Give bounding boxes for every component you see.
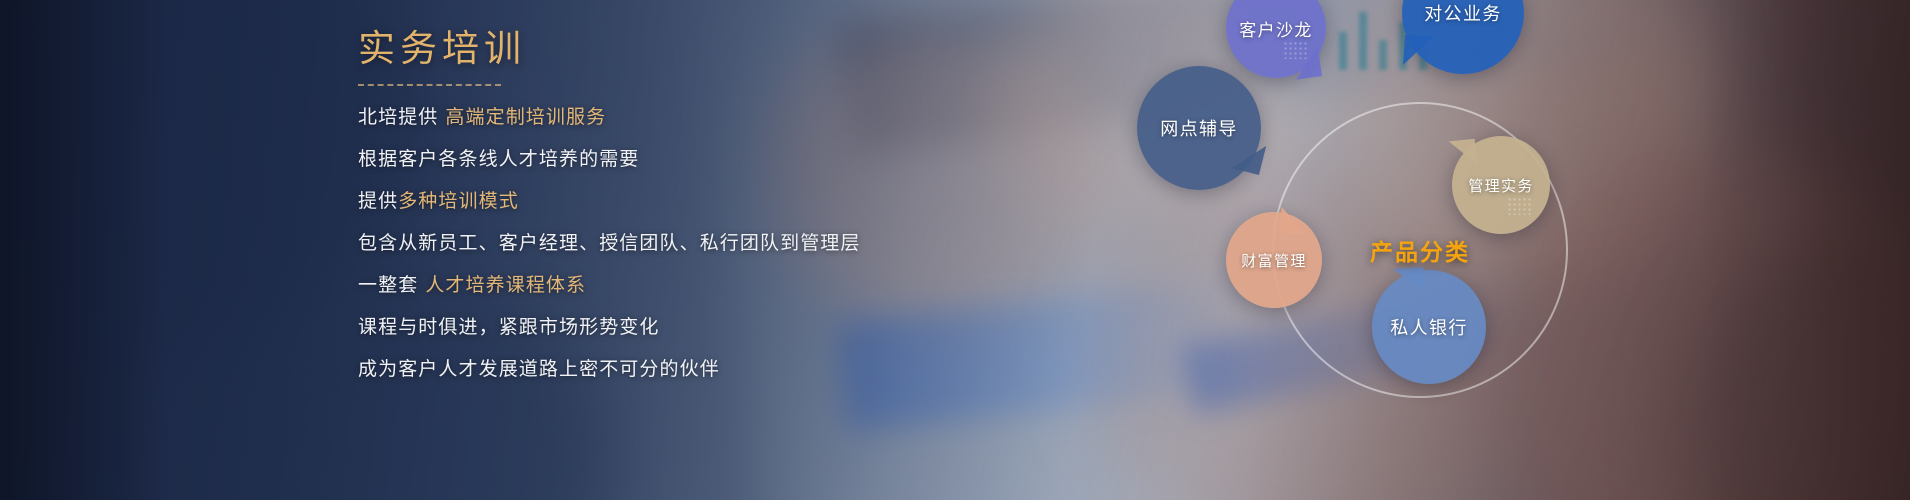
copy-lines: 北培提供高端定制培训服务 根据客户各条线人才培养的需要 提供多种培训模式 包含从… <box>358 108 878 379</box>
copy-text-highlight: 人才培养课程体系 <box>425 275 586 296</box>
title-divider <box>358 84 501 86</box>
copy-text-plain: 包含从新员工、客户经理、授信团队、私行团队到管理层 <box>358 233 861 254</box>
background-right-vignette <box>1700 0 1910 500</box>
node-label: 网点辅导 <box>1160 115 1238 141</box>
training-banner: 实务培训 北培提供高端定制培训服务 根据客户各条线人才培养的需要 提供多种培训模… <box>0 0 1910 500</box>
copy-text-plain: 根据客户各条线人才培养的需要 <box>358 149 639 170</box>
copy-line: 北培提供高端定制培训服务 <box>358 108 878 127</box>
background-left-vignette <box>0 0 170 500</box>
copy-text-plain: 成为客户人才发展道路上密不可分的伙伴 <box>358 359 720 380</box>
copy-line: 提供多种培训模式 <box>358 192 878 211</box>
node-label: 对公业务 <box>1424 0 1502 26</box>
diagram-center-label: 产品分类 <box>1370 233 1470 267</box>
node-label: 管理实务 <box>1468 175 1534 196</box>
copy-text-highlight: 多种培训模式 <box>398 191 519 212</box>
copy-line: 包含从新员工、客户经理、授信团队、私行团队到管理层 <box>358 234 878 253</box>
node-branch-coaching[interactable]: 网点辅导 <box>1137 66 1261 190</box>
product-category-diagram: 客户沙龙 对公业务 管理实务 私人银行 财富管理 网点辅导 产品分类 <box>1140 0 1700 500</box>
dot-pattern-icon <box>1283 41 1309 59</box>
copy-text-plain: 北培提供 <box>358 107 438 128</box>
node-label: 客户沙龙 <box>1239 16 1313 41</box>
copy-text-plain: 一整套 <box>358 275 418 296</box>
copy-line: 课程与时俱进，紧跟市场形势变化 <box>358 318 878 337</box>
copy-text-plain: 提供 <box>358 191 398 212</box>
node-label: 财富管理 <box>1241 250 1307 271</box>
copy-text-plain: 课程与时俱进，紧跟市场形势变化 <box>358 317 660 338</box>
copy-line: 根据客户各条线人才培养的需要 <box>358 150 878 169</box>
copy-block: 实务培训 北培提供高端定制培训服务 根据客户各条线人才培养的需要 提供多种培训模… <box>358 26 878 402</box>
node-customer-salon[interactable]: 客户沙龙 <box>1226 0 1326 78</box>
page-title: 实务培训 <box>358 26 878 71</box>
dot-pattern-icon <box>1507 197 1533 215</box>
node-private-banking[interactable]: 私人银行 <box>1372 270 1486 384</box>
node-wealth-management[interactable]: 财富管理 <box>1226 212 1322 308</box>
node-corporate-business[interactable]: 对公业务 <box>1402 0 1524 74</box>
node-label: 私人银行 <box>1390 314 1468 340</box>
copy-line: 一整套人才培养课程体系 <box>358 276 878 295</box>
node-management-practice[interactable]: 管理实务 <box>1452 136 1550 234</box>
copy-text-highlight: 高端定制培训服务 <box>445 107 606 128</box>
copy-line: 成为客户人才发展道路上密不可分的伙伴 <box>358 360 878 379</box>
